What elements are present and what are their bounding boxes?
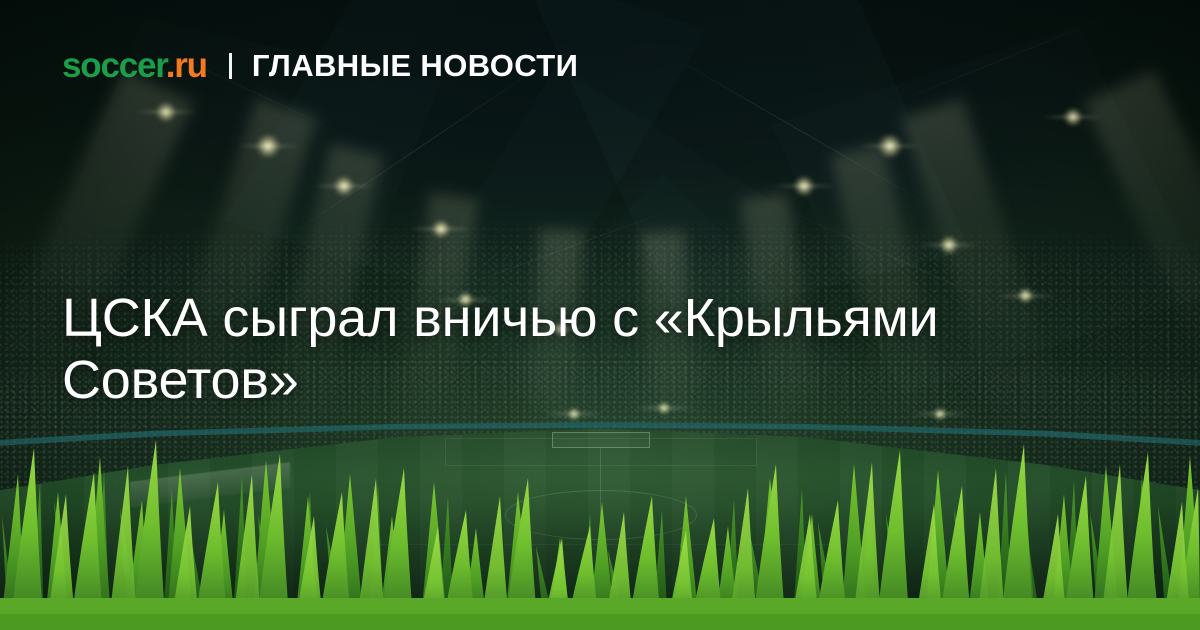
logo-word: soccer	[62, 46, 166, 85]
article-headline: ЦСКА сыграл вничью с «Крыльями Советов»	[62, 288, 1112, 411]
section-kicker: ГЛАВНЫЕ НОВОСТИ	[252, 50, 578, 81]
news-banner-card: soccer.ru ГЛАВНЫЕ НОВОСТИ ЦСКА сыграл вн…	[0, 0, 1200, 630]
foreground-grass	[0, 430, 1200, 630]
logo-tld: .ru	[166, 46, 207, 85]
banner-header: soccer.ru ГЛАВНЫЕ НОВОСТИ	[62, 48, 578, 83]
header-separator	[229, 53, 232, 79]
site-logo[interactable]: soccer.ru	[62, 48, 207, 83]
